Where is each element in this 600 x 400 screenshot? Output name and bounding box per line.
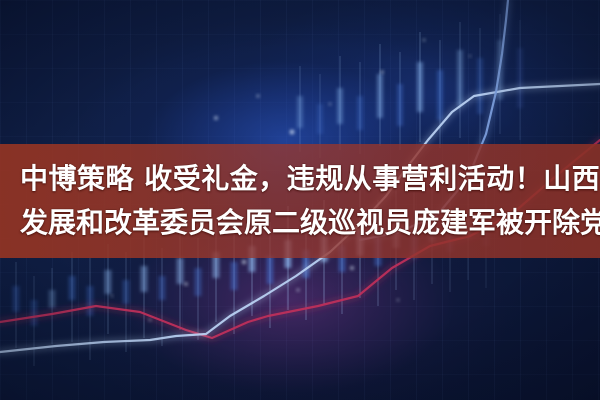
candle-body (159, 276, 166, 300)
candle-body (437, 70, 443, 120)
sparkle-dot (296, 288, 299, 291)
candle-body (69, 276, 76, 300)
candle-body (195, 268, 202, 296)
candle-body (105, 270, 112, 294)
sparkle-dot (380, 70, 384, 74)
candle-body (297, 96, 303, 128)
candle-body (177, 258, 184, 284)
candle-body (49, 290, 56, 308)
candle-body (317, 104, 323, 134)
candle-body (517, 48, 523, 108)
sparkle-dot (214, 116, 218, 120)
sparkle-dot (290, 130, 295, 135)
candle-body (377, 74, 383, 118)
headline-line-2: 发展和改革委员会原二级巡视员庞建军被开除党籍 (20, 201, 586, 245)
sparkle-dot (242, 260, 246, 264)
candle-body (357, 96, 363, 130)
candle-body (477, 58, 483, 114)
sparkle-dot (350, 266, 354, 270)
sparkle-dot (111, 295, 114, 298)
headline-line-1: 中博策略 收受礼金，违规从事营利活动！山西省 (20, 157, 586, 201)
candle-body (457, 50, 463, 106)
candle-body (267, 256, 274, 284)
headline-banner: 中博策略 收受礼金，违规从事营利活动！山西省 发展和改革委员会原二级巡视员庞建军… (0, 144, 600, 258)
candle-body (231, 262, 238, 290)
candle-body (397, 84, 403, 126)
candle-body (31, 300, 38, 326)
sparkle-dot (423, 39, 426, 42)
candle-body (337, 88, 343, 124)
sparkle-dot (329, 103, 332, 106)
candle-body (13, 286, 20, 312)
sparkle-dot (256, 94, 259, 97)
sparkle-dot (184, 282, 188, 286)
candle-body (87, 286, 94, 316)
image-canvas: 中博策略 收受礼金，违规从事营利活动！山西省 发展和改革委员会原二级巡视员庞建军… (0, 0, 600, 400)
candle-body (141, 266, 148, 292)
candle-body (123, 280, 130, 304)
sparkle-dot (397, 299, 400, 302)
candle-body (417, 62, 423, 112)
sparkle-dot (469, 55, 472, 58)
